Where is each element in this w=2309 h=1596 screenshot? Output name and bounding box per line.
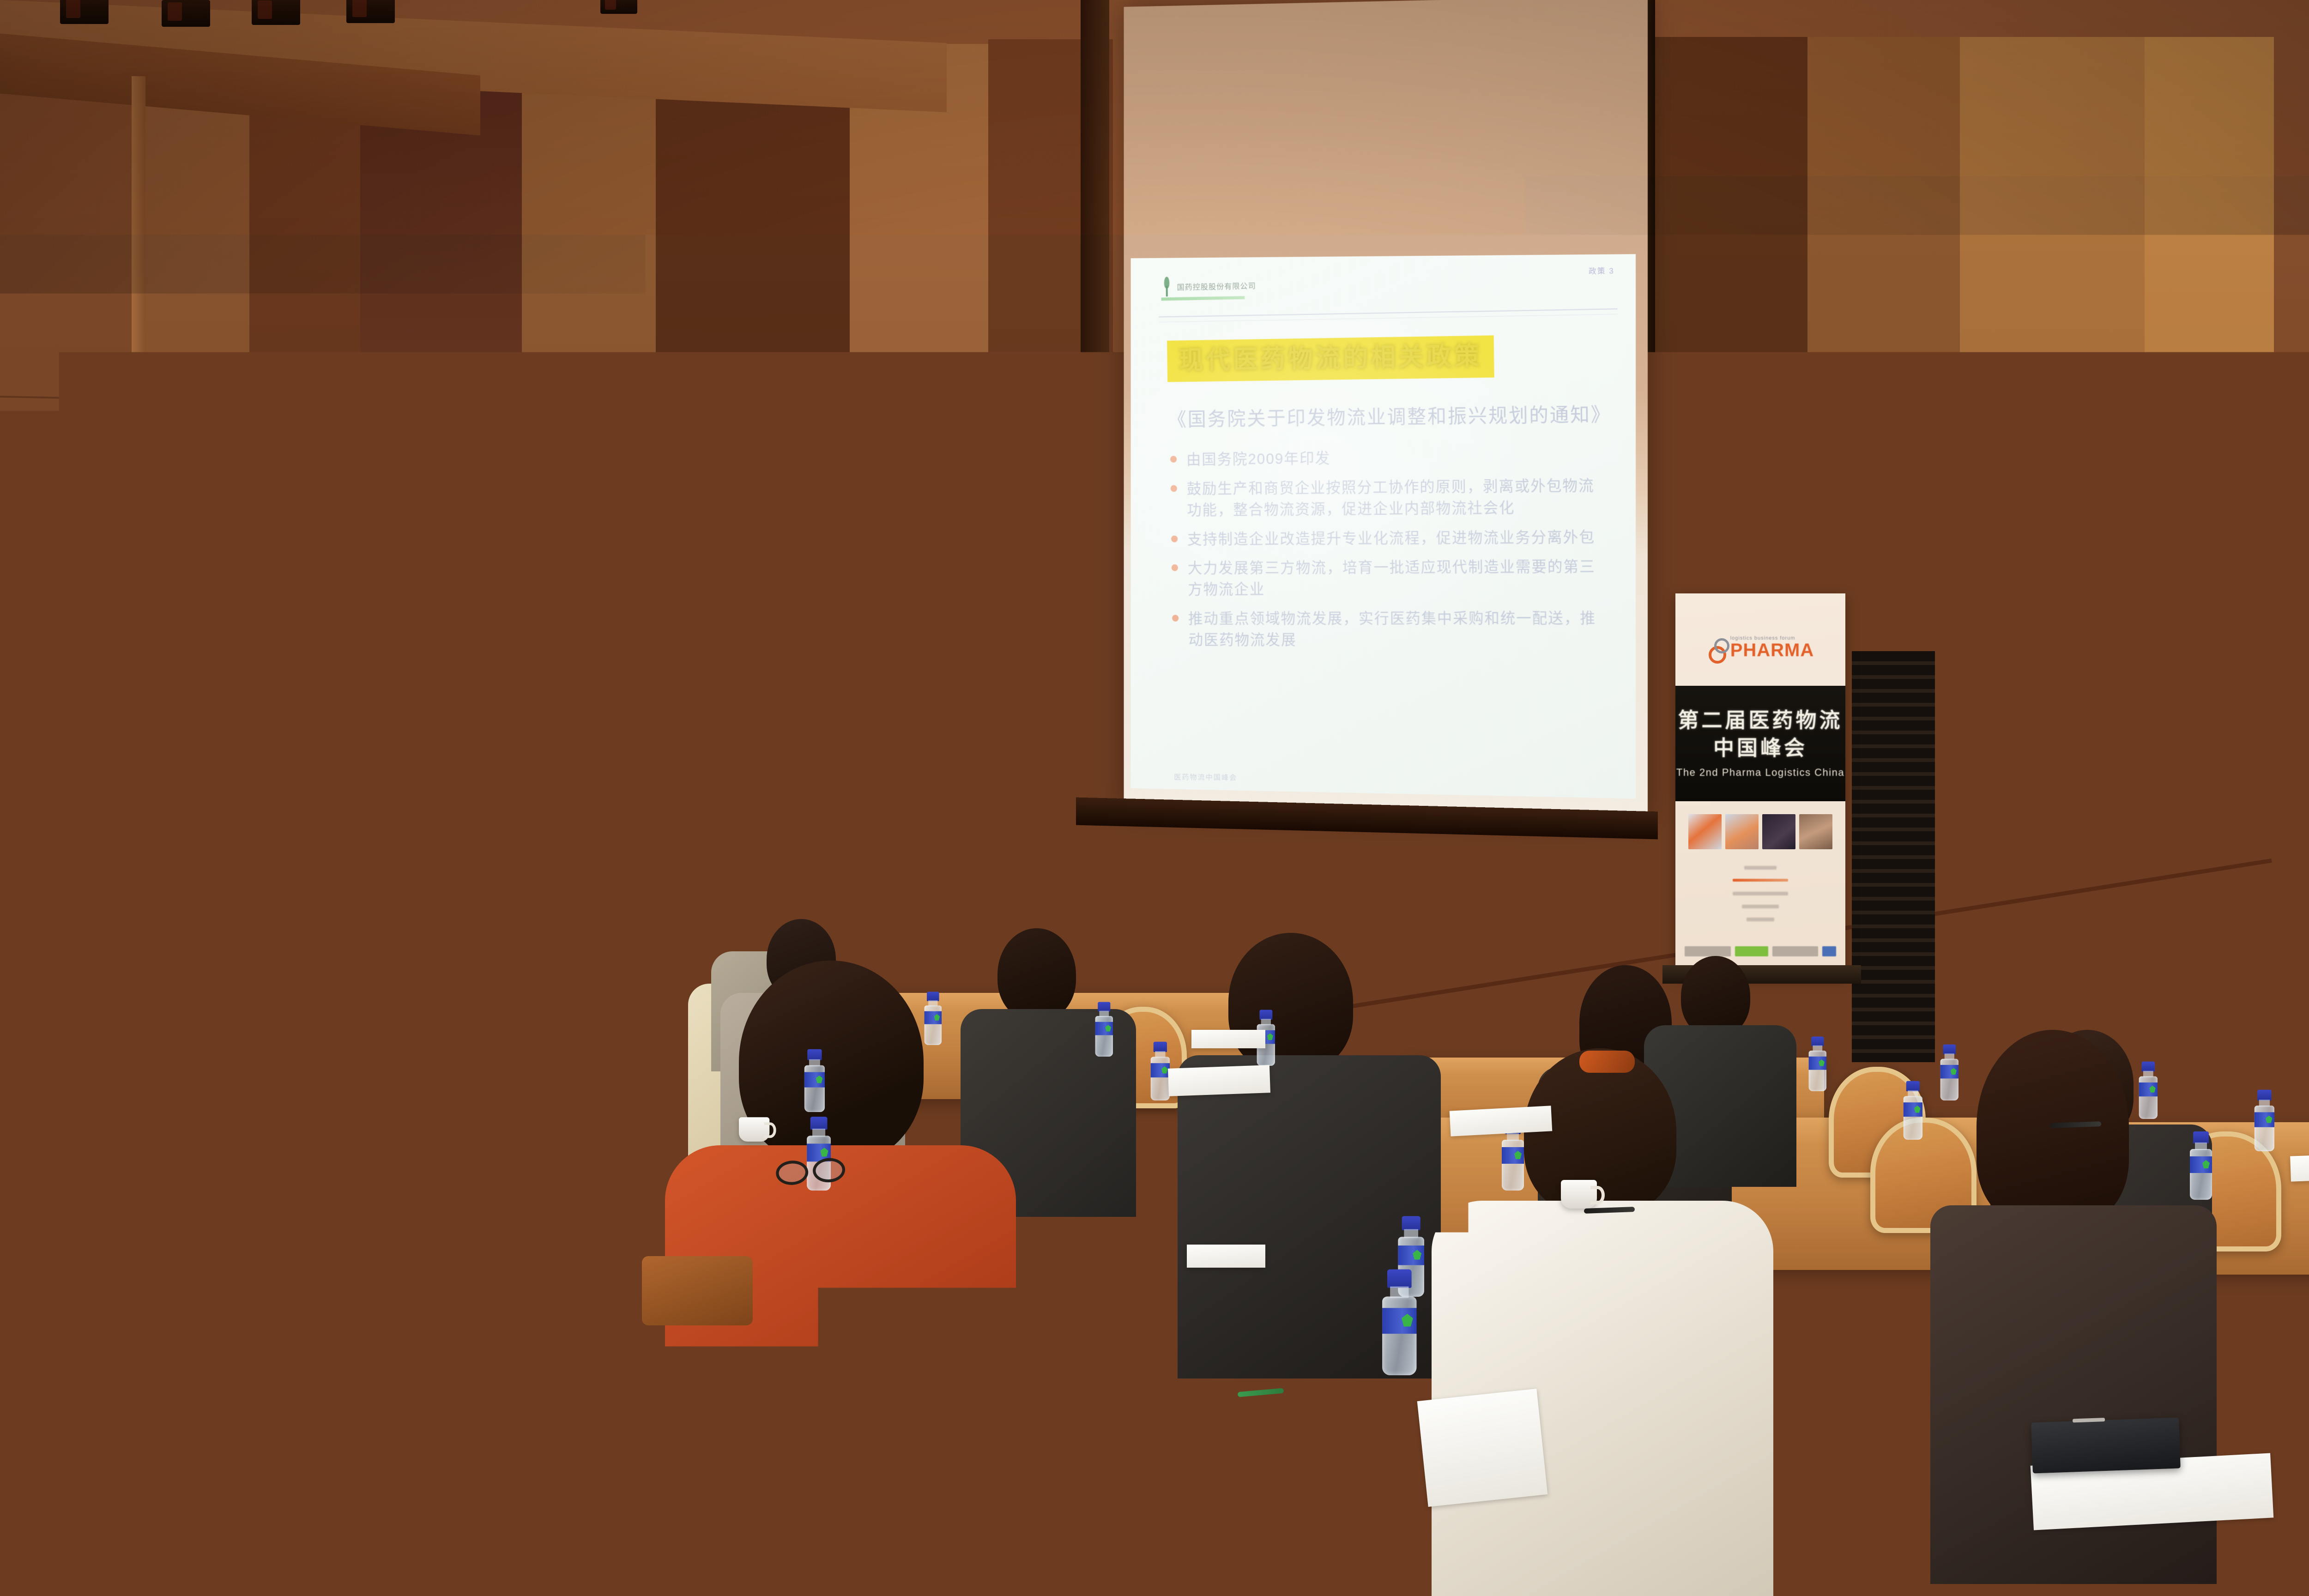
speaker-head xyxy=(650,665,706,730)
handout-papers[interactable] xyxy=(364,1082,514,1126)
slide-bullet-list: 由国务院2009年印发 鼓励生产和商贸企业按照分工协作的原则，剥离或外包物流功能… xyxy=(1170,445,1611,659)
presentation-slide: 国药控股股份有限公司 政策 3 现代医药物流的相关政策 《国务院关于印发物流业调… xyxy=(1131,254,1636,798)
handout-papers[interactable] xyxy=(2290,1153,2309,1181)
banner-text-line xyxy=(1747,918,1774,921)
banner-stand xyxy=(1852,651,1935,1062)
handout-papers[interactable] xyxy=(1417,1389,1548,1507)
banner-sponsor-row xyxy=(1685,946,1836,956)
handout-papers[interactable] xyxy=(1168,1065,1270,1096)
bullet-dot-icon xyxy=(1172,615,1179,622)
podium-top-surface xyxy=(614,779,799,806)
banner-photo-audience xyxy=(1762,814,1795,849)
slide-divider xyxy=(1159,308,1617,317)
attendee-torso xyxy=(0,1362,115,1596)
sponsor-logo xyxy=(1822,946,1836,956)
banner-headline-block: 第二届医药物流 中国峰会 The 2nd Pharma Logistics Ch… xyxy=(1675,686,1845,801)
attendee-torso xyxy=(210,951,298,1058)
list-item: 大力发展第三方物流，培育一批适应现代制造业需要的第三方物流企业 xyxy=(1171,556,1610,601)
ceiling-light-5 xyxy=(600,0,637,14)
bullet-text: 大力发展第三方物流，培育一批适应现代制造业需要的第三方物流企业 xyxy=(1188,556,1610,600)
water-bottle[interactable] xyxy=(2138,1062,2158,1119)
list-item: 由国务院2009年印发 xyxy=(1170,445,1608,471)
infinity-rings-icon xyxy=(1707,638,1727,658)
water-bottle[interactable] xyxy=(1940,1045,1959,1100)
attendee-head xyxy=(65,928,125,997)
water-bottle[interactable] xyxy=(2254,1090,2275,1151)
water-bottle[interactable] xyxy=(804,1049,826,1112)
wall-panel-1 xyxy=(0,79,139,1025)
projection-screen: 国药控股股份有限公司 政策 3 现代医药物流的相关政策 《国务院关于印发物流业调… xyxy=(1124,0,1648,822)
water-bottle[interactable] xyxy=(1094,1002,1114,1057)
banner-logo-text: PHARMA xyxy=(1730,641,1814,659)
sponsor-logo xyxy=(1735,946,1768,956)
water-bottle[interactable] xyxy=(1808,1037,1827,1091)
conference-room-photo: 国药控股股份有限公司 政策 3 现代医药物流的相关政策 《国务院关于印发物流业调… xyxy=(0,0,2309,1596)
water-bottle[interactable] xyxy=(1381,1270,1418,1375)
banner-headline-line1: 第二届医药物流 xyxy=(1678,708,1843,732)
banner-photo-truck xyxy=(1799,814,1832,849)
slide-footer: 医药物流中国峰会 xyxy=(1174,771,1237,782)
banner-text-line xyxy=(1733,892,1788,895)
list-item: 推动重点领域物流发展，实行医药集中采购和统一配送，推动医药物流发展 xyxy=(1172,608,1611,651)
water-bottle[interactable] xyxy=(199,983,215,1031)
water-bottle[interactable] xyxy=(2189,1131,2213,1200)
banner-photo-pharmacy xyxy=(1688,814,1722,849)
bullet-text: 由国务院2009年印发 xyxy=(1186,448,1331,471)
bullet-dot-icon xyxy=(1172,564,1178,571)
phone-screen xyxy=(218,929,251,950)
banner-text-line xyxy=(1742,905,1779,908)
laptop[interactable] xyxy=(2031,1417,2181,1473)
handbag[interactable] xyxy=(642,1256,753,1325)
wall-panel-12 xyxy=(2145,37,2274,1030)
logo-dot-icon xyxy=(722,902,727,907)
water-bottle[interactable] xyxy=(522,981,538,1029)
bullet-text: 支持制造企业改造提升专业化流程，促进物流业务分离外包 xyxy=(1187,526,1595,550)
slide-logo-text: 国药控股股份有限公司 xyxy=(1177,279,1256,292)
bullet-text: 推动重点领域物流发展，实行医药集中采购和统一配送，推动医药物流发展 xyxy=(1188,608,1611,651)
hair-accessory xyxy=(1579,1051,1635,1073)
ceiling-light-3 xyxy=(252,0,300,25)
attendee-head xyxy=(1681,956,1750,1037)
banner-logo: logistics business forum PHARMA xyxy=(1675,636,1845,659)
slide-logo-bar xyxy=(1161,296,1245,301)
bullet-dot-icon xyxy=(1170,456,1177,463)
banner-text-line xyxy=(1744,866,1777,870)
banner-photo-strip xyxy=(1688,814,1832,849)
chair[interactable] xyxy=(125,871,199,954)
coffee-cup[interactable] xyxy=(1561,1180,1597,1209)
handout-papers[interactable] xyxy=(1187,1245,1265,1268)
water-bottle[interactable] xyxy=(171,1173,205,1269)
banner-photo-warehouse xyxy=(1725,814,1759,849)
slide-title: 现代医药物流的相关政策 xyxy=(1167,335,1494,382)
mobile-phone[interactable] xyxy=(212,926,257,953)
wall-speaker xyxy=(229,501,289,619)
rollup-banner: logistics business forum PHARMA 第二届医药物流 … xyxy=(1675,593,1845,977)
list-item: 支持制造企业改造提升专业化流程，促进物流业务分离外包 xyxy=(1171,526,1609,550)
list-item: 鼓励生产和商贸企业按照分工协作的原则，剥离或外包物流功能，整合物流资源，促进企业… xyxy=(1170,475,1609,521)
bullet-dot-icon xyxy=(1171,485,1177,492)
attendee-head xyxy=(351,891,420,974)
wall-panel-7 xyxy=(850,44,988,1028)
holiday-inn-hi-icon xyxy=(700,899,730,928)
coffee-cup[interactable] xyxy=(369,1217,415,1253)
banner-headline-line2: 中国峰会 xyxy=(1713,736,1807,760)
banner-body-text xyxy=(1703,866,1818,931)
slide-page-number: 政策 3 xyxy=(1589,264,1614,276)
handout-papers[interactable] xyxy=(1450,1106,1553,1136)
sponsor-logo xyxy=(1685,946,1731,956)
slide-subtitle: 《国务院关于印发物流业调整和振兴规划的通知》 xyxy=(1168,399,1612,432)
sponsor-logo xyxy=(1772,946,1819,956)
exit-sign-left-text: 安全出口 xyxy=(467,576,511,591)
bullet-text: 鼓励生产和商贸企业按照分工协作的原则，剥离或外包物流功能，整合物流资源，促进企业… xyxy=(1187,475,1609,520)
water-bottle[interactable] xyxy=(924,992,943,1045)
bullet-dot-icon xyxy=(1171,535,1178,542)
banner-headline-english: The 2nd Pharma Logistics China xyxy=(1676,767,1844,779)
water-bottle[interactable] xyxy=(1903,1081,1923,1140)
speaker-driver-icon xyxy=(249,610,254,614)
ceiling-light-2 xyxy=(162,0,210,27)
exit-sign-left: 安全出口 xyxy=(462,573,516,594)
water-bottle[interactable] xyxy=(439,996,456,1045)
eyeglasses[interactable] xyxy=(775,1157,846,1181)
leaf-icon xyxy=(1161,277,1173,296)
attendee-torso xyxy=(665,1145,1016,1596)
banner-accent-rule xyxy=(1733,879,1788,882)
handbag[interactable] xyxy=(296,1496,536,1596)
water-bottle[interactable] xyxy=(1150,1042,1171,1100)
wall-panel-11 xyxy=(1960,37,2145,1030)
screen-frame-left xyxy=(1081,0,1109,827)
handout-papers[interactable] xyxy=(1191,1030,1265,1048)
coffee-cup[interactable] xyxy=(739,1117,769,1142)
ceiling-light-1 xyxy=(60,0,109,24)
podium-brand-logo: 假日酒店 Holiday Inn xyxy=(688,899,742,955)
water-bottle[interactable] xyxy=(351,991,368,1040)
slide-company-logo: 国药控股股份有限公司 xyxy=(1161,275,1256,297)
podium-brand-cn: 假日酒店 xyxy=(688,933,742,945)
attendee-head xyxy=(997,928,1076,1021)
attendee-head xyxy=(1228,933,1353,1071)
ceiling-light-4 xyxy=(346,0,395,23)
